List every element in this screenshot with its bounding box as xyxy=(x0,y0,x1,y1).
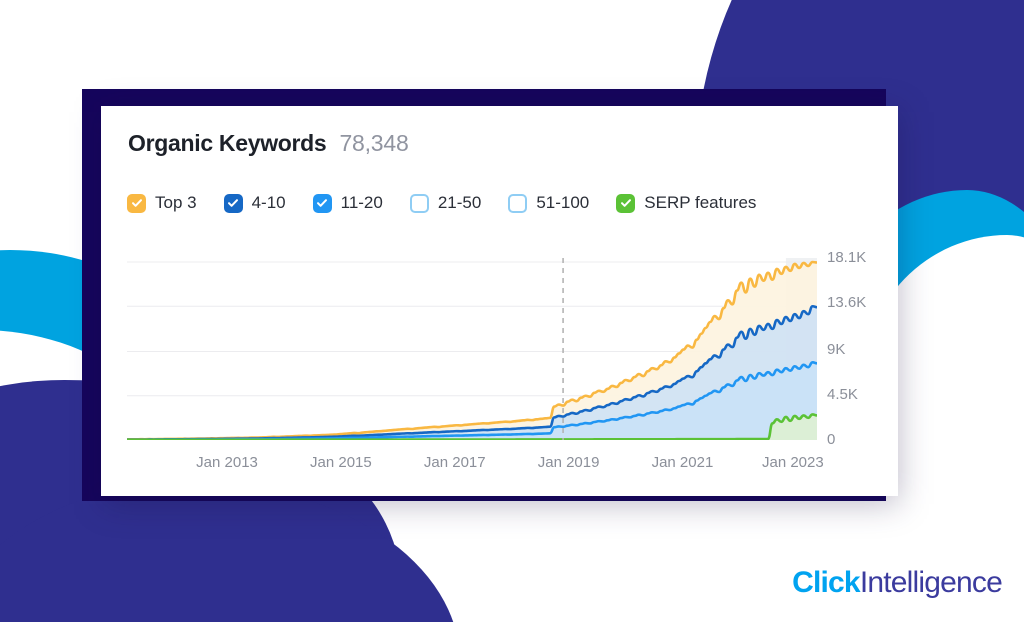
checkbox-checked-icon[interactable] xyxy=(127,194,146,213)
x-axis-tick-label: Jan 2019 xyxy=(538,454,600,471)
legend-item-label: Top 3 xyxy=(155,193,197,213)
y-axis: 04.5K9K13.6K18.1K xyxy=(827,251,897,447)
page-title: Organic Keywords xyxy=(128,130,326,157)
area-chart-svg xyxy=(127,258,817,440)
x-axis-tick-label: Jan 2013 xyxy=(196,454,258,471)
x-axis-tick-label: Jan 2023 xyxy=(762,454,824,471)
legend-item-21-50[interactable]: 21-50 xyxy=(410,193,481,213)
legend-item-51-100[interactable]: 51-100 xyxy=(508,193,589,213)
x-axis-tick-label: Jan 2017 xyxy=(424,454,486,471)
y-axis-tick-label: 4.5K xyxy=(827,386,858,403)
x-axis: Jan 2013Jan 2015Jan 2017Jan 2019Jan 2021… xyxy=(127,454,817,478)
legend-item-11-20[interactable]: 11-20 xyxy=(313,193,383,213)
legend-item-label: 21-50 xyxy=(438,193,481,213)
legend-item-label: 51-100 xyxy=(536,193,589,213)
legend-item-label: 4-10 xyxy=(252,193,286,213)
checkbox-checked-icon[interactable] xyxy=(224,194,243,213)
checkbox-checked-icon[interactable] xyxy=(616,194,635,213)
y-axis-tick-label: 0 xyxy=(827,431,835,448)
x-axis-tick-label: Jan 2021 xyxy=(652,454,714,471)
legend-item-label: 11-20 xyxy=(341,193,383,213)
checkbox-checked-icon[interactable] xyxy=(313,194,332,213)
brand-logo: ClickIntelligence xyxy=(792,566,1002,600)
organic-keywords-card: Organic Keywords 78,348 Top 34-1011-2021… xyxy=(101,106,898,496)
legend-item-label: SERP features xyxy=(644,193,756,213)
y-axis-tick-label: 18.1K xyxy=(827,249,866,266)
logo-intelligence-text: Intelligence xyxy=(860,566,1002,600)
legend-item-top-3[interactable]: Top 3 xyxy=(127,193,197,213)
x-axis-tick-label: Jan 2015 xyxy=(310,454,372,471)
screenshot-root: Organic Keywords 78,348 Top 34-1011-2021… xyxy=(0,0,1024,622)
logo-click-text: Click xyxy=(792,566,860,600)
chart-plot-area xyxy=(127,258,817,440)
checkbox-unchecked-icon[interactable] xyxy=(410,194,429,213)
y-axis-tick-label: 13.6K xyxy=(827,294,866,311)
chart-legend: Top 34-1011-2021-5051-100SERP features xyxy=(127,193,756,213)
checkbox-unchecked-icon[interactable] xyxy=(508,194,527,213)
keyword-total-value: 78,348 xyxy=(339,130,408,157)
card-header: Organic Keywords 78,348 xyxy=(128,130,409,157)
legend-item-serp-features[interactable]: SERP features xyxy=(616,193,756,213)
y-axis-tick-label: 9K xyxy=(827,341,845,358)
legend-item-4-10[interactable]: 4-10 xyxy=(224,193,286,213)
